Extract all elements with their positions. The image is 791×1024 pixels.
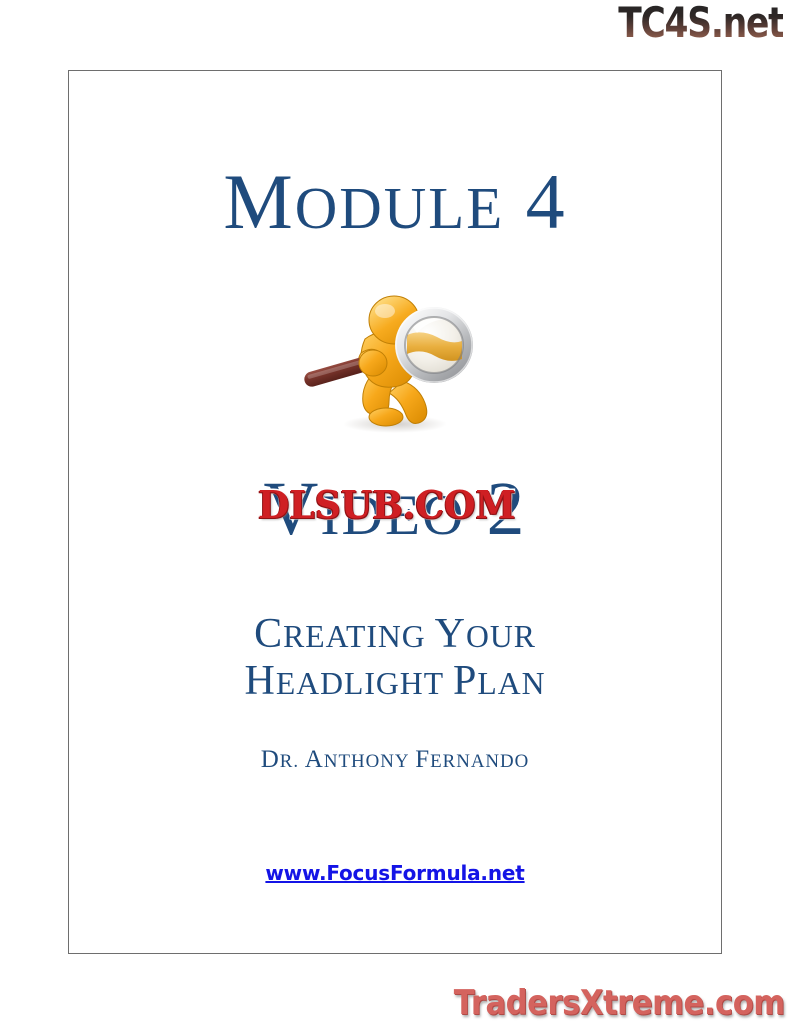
subtitle-l1-word2: OUR bbox=[466, 619, 536, 654]
page-title-module: MODULE 4 bbox=[69, 163, 721, 241]
cover-page-sheet: MODULE 4 bbox=[68, 70, 722, 954]
author-first-cap: A bbox=[305, 746, 324, 773]
module-title-spacer bbox=[504, 158, 526, 245]
subtitle-l2-word1: EADLIGHT bbox=[276, 666, 444, 701]
author-last-cap: F bbox=[415, 746, 430, 773]
subtitle-line-2: HEADLIGHT PLAN bbox=[69, 658, 721, 705]
module-title-number: 4 bbox=[526, 158, 567, 245]
website-link-container: www.FocusFormula.net bbox=[69, 861, 721, 885]
watermark-bottom-tradersxtreme: TradersXtreme.com bbox=[454, 986, 785, 1020]
module-title-initial: M bbox=[223, 158, 294, 245]
magnifying-glass-person-icon bbox=[291, 277, 491, 437]
subtitle-line-1: CREATING YOUR bbox=[69, 611, 721, 658]
author-prefix-cap: D bbox=[261, 746, 280, 773]
author-name: DR. ANTHONY FERNANDO bbox=[69, 747, 721, 772]
page-subtitle: CREATING YOUR HEADLIGHT PLAN bbox=[69, 611, 721, 705]
author-last-rest: ERNANDO bbox=[430, 751, 529, 772]
author-first-rest: NTHONY bbox=[324, 751, 410, 772]
subtitle-l2-word2: LAN bbox=[477, 666, 545, 701]
watermark-overlay-dlsub: DLSUB.COM bbox=[258, 486, 515, 524]
author-prefix-rest: R. bbox=[280, 751, 299, 772]
website-link[interactable]: www.FocusFormula.net bbox=[265, 861, 524, 885]
subtitle-l1-space bbox=[426, 619, 435, 654]
subtitle-l1-cap1: C bbox=[254, 611, 283, 657]
subtitle-l1-word1: REATING bbox=[283, 619, 426, 654]
subtitle-l2-cap2: P bbox=[453, 658, 477, 704]
subtitle-l2-cap1: H bbox=[244, 658, 275, 704]
subtitle-l2-space bbox=[444, 666, 453, 701]
module-title-rest: ODULE bbox=[295, 176, 504, 241]
subtitle-l1-cap2: Y bbox=[435, 611, 466, 657]
watermark-top-tc4s: TC4S.net bbox=[618, 2, 783, 44]
